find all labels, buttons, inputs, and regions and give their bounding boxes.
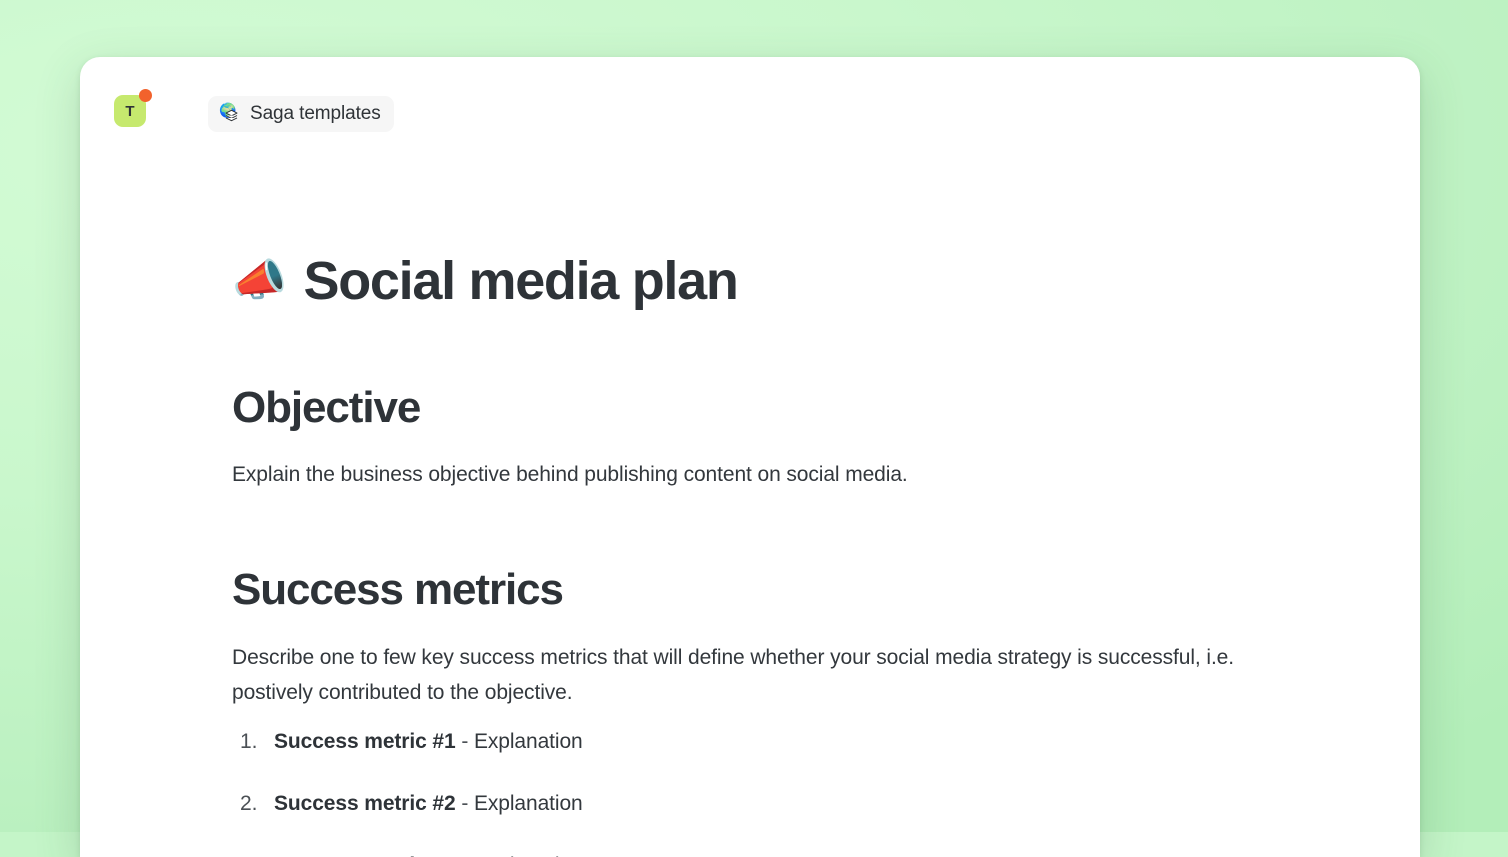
breadcrumb-saga-templates[interactable]: 🌍 Saga templates [208, 96, 394, 132]
metric-name: Success metric #2 [274, 792, 456, 815]
page-title-text: Social media plan [304, 253, 738, 310]
breadcrumb-label: Saga templates [250, 103, 381, 125]
workspace-avatar[interactable]: T [114, 95, 146, 127]
stack-layers-icon [225, 109, 238, 124]
metric-description: Explanation [474, 792, 583, 815]
metric-separator: - [456, 730, 474, 753]
page-title[interactable]: 📣 Social media plan [232, 191, 1371, 310]
metric-name: Success metric #1 [274, 730, 456, 753]
top-bar: T 🌍 Saga templates [89, 66, 1411, 162]
app-surface: T 🌍 Saga templates [89, 66, 1411, 857]
list-item[interactable]: Success metric #2 - Explanation [232, 790, 1371, 817]
section-body-success-metrics[interactable]: Describe one to few key success metrics … [232, 614, 1242, 710]
avatar-initial: T [125, 103, 134, 120]
list-item[interactable]: Success metric #3 - Explanation [232, 852, 1371, 857]
document-body: 📣 Social media plan Objective Explain th… [232, 191, 1371, 857]
metric-description: Explanation [474, 730, 583, 753]
success-metrics-list: Success metric #1 - Explanation Success … [232, 710, 1371, 857]
list-item[interactable]: Success metric #1 - Explanation [232, 728, 1371, 755]
section-heading-success-metrics[interactable]: Success metrics [232, 492, 1371, 614]
metric-separator: - [456, 792, 474, 815]
app-window: T 🌍 Saga templates [80, 57, 1420, 857]
section-body-objective[interactable]: Explain the business objective behind pu… [232, 431, 1242, 492]
notification-dot-icon [139, 89, 152, 102]
globe-stack-icon: 🌍 [219, 104, 241, 124]
section-heading-objective[interactable]: Objective [232, 310, 1371, 432]
megaphone-icon: 📣 [232, 259, 286, 303]
